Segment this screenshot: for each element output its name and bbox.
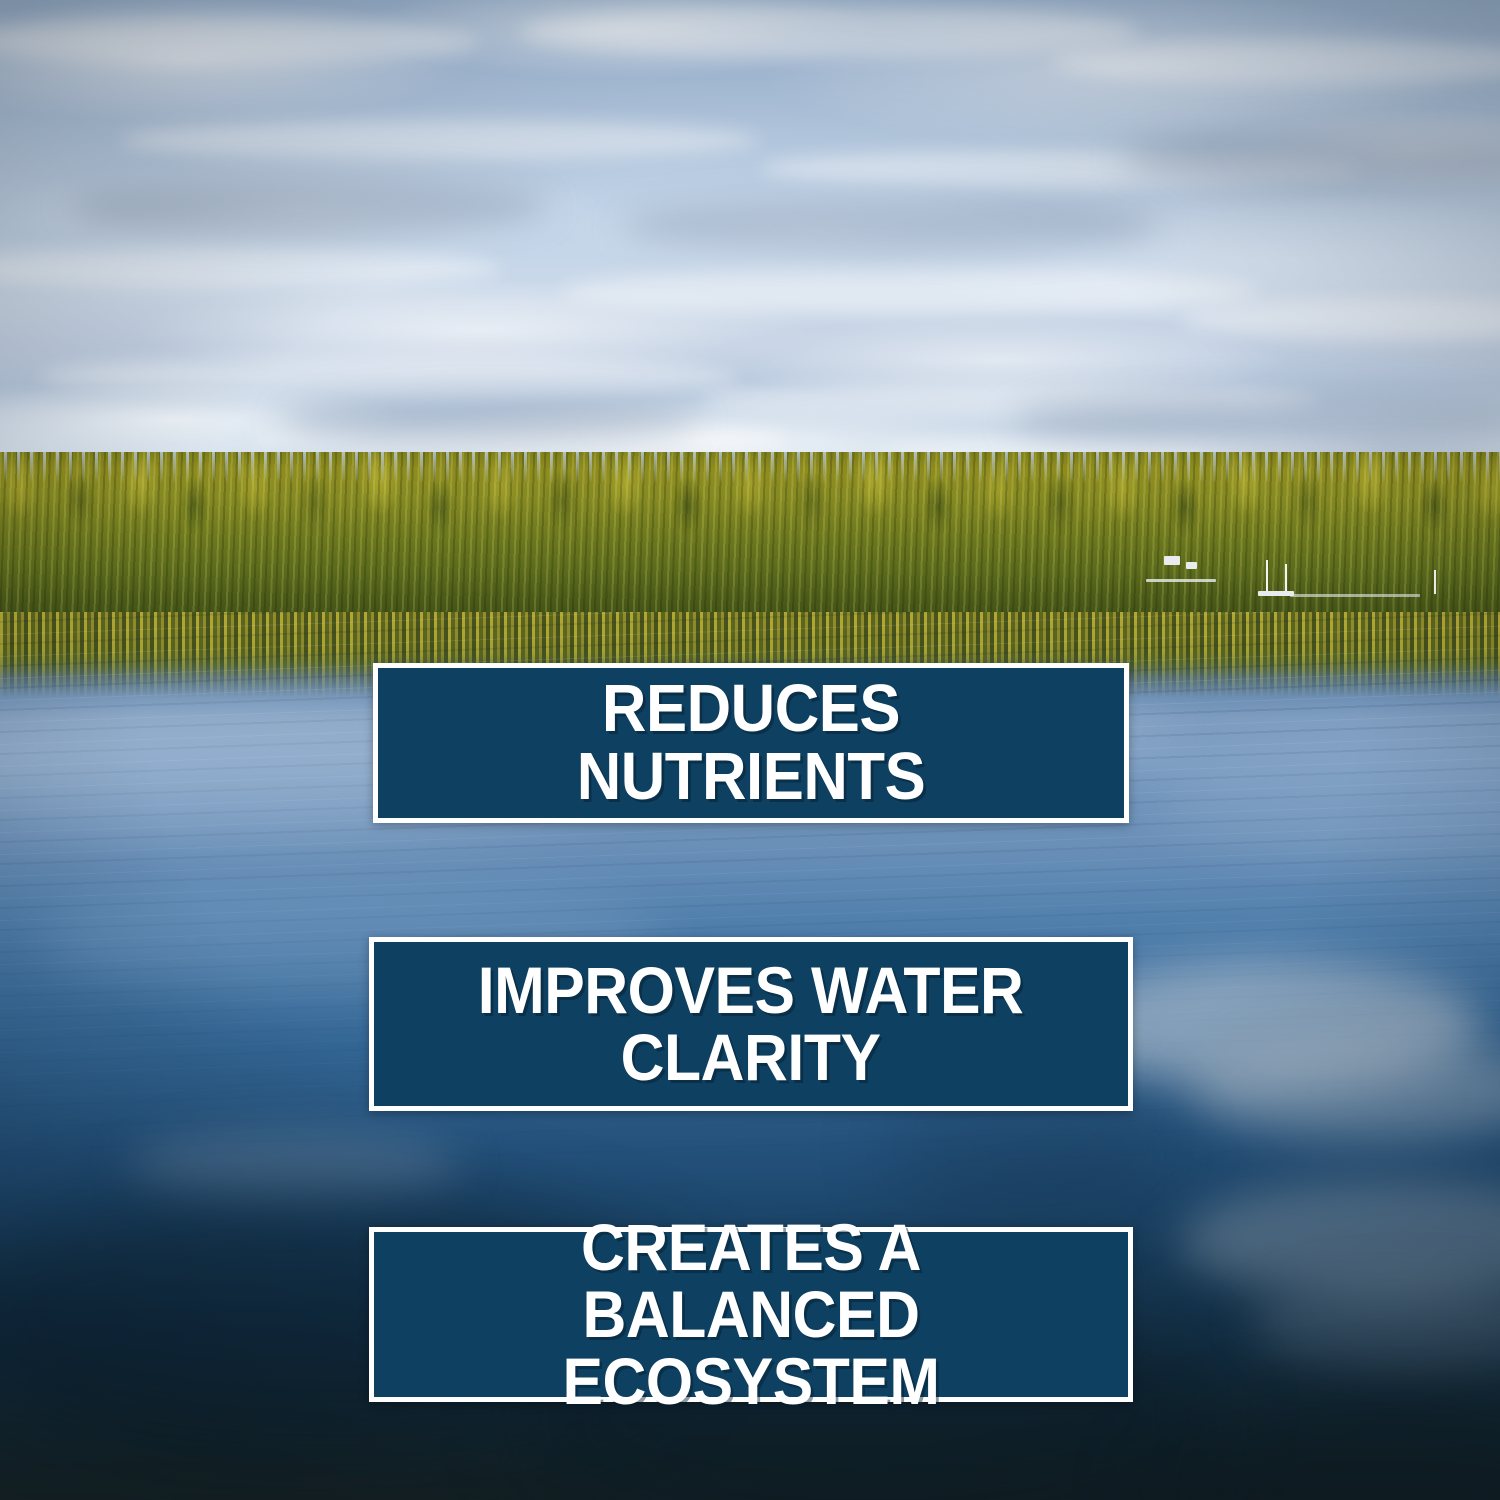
distant-shore-strip	[1146, 579, 1216, 582]
distant-building	[1164, 556, 1180, 565]
cloud-wisp	[120, 120, 760, 160]
treetop-silhouette	[0, 452, 1500, 484]
sailboat-mast	[1266, 560, 1268, 594]
banner-reduces-nutrients-label: REDUCES NUTRIENTS	[408, 675, 1094, 812]
banner-creates-a-balanced-ecosystem: CREATES A BALANCED ECOSYSTEM	[369, 1227, 1133, 1402]
cloud-shadow	[1010, 392, 1500, 450]
cloud-wisp	[40, 356, 740, 396]
distant-building	[1186, 562, 1197, 569]
banner-reduces-nutrients: REDUCES NUTRIENTS	[373, 663, 1129, 823]
sailboat-mast	[1285, 564, 1287, 594]
cloud-wisp	[560, 268, 1260, 314]
promo-image-canvas: REDUCES NUTRIENTS IMPROVES WATER CLARITY…	[0, 0, 1500, 1500]
distant-shore-strip	[1290, 594, 1420, 597]
sailboat-mast	[1434, 570, 1436, 594]
forest-shoreline	[0, 452, 1500, 622]
banner-creates-a-balanced-ecosystem-label: CREATES A BALANCED ECOSYSTEM	[404, 1214, 1098, 1416]
sailboat-hull	[1258, 591, 1294, 596]
cloud-shadow	[70, 176, 550, 238]
cloud-wisp	[520, 6, 1140, 58]
cloud-shadow	[280, 400, 700, 444]
banner-improves-water-clarity-label: IMPROVES WATER CLARITY	[465, 957, 1036, 1092]
cloud-shadow	[620, 196, 1160, 254]
banner-improves-water-clarity: IMPROVES WATER CLARITY	[369, 937, 1133, 1111]
